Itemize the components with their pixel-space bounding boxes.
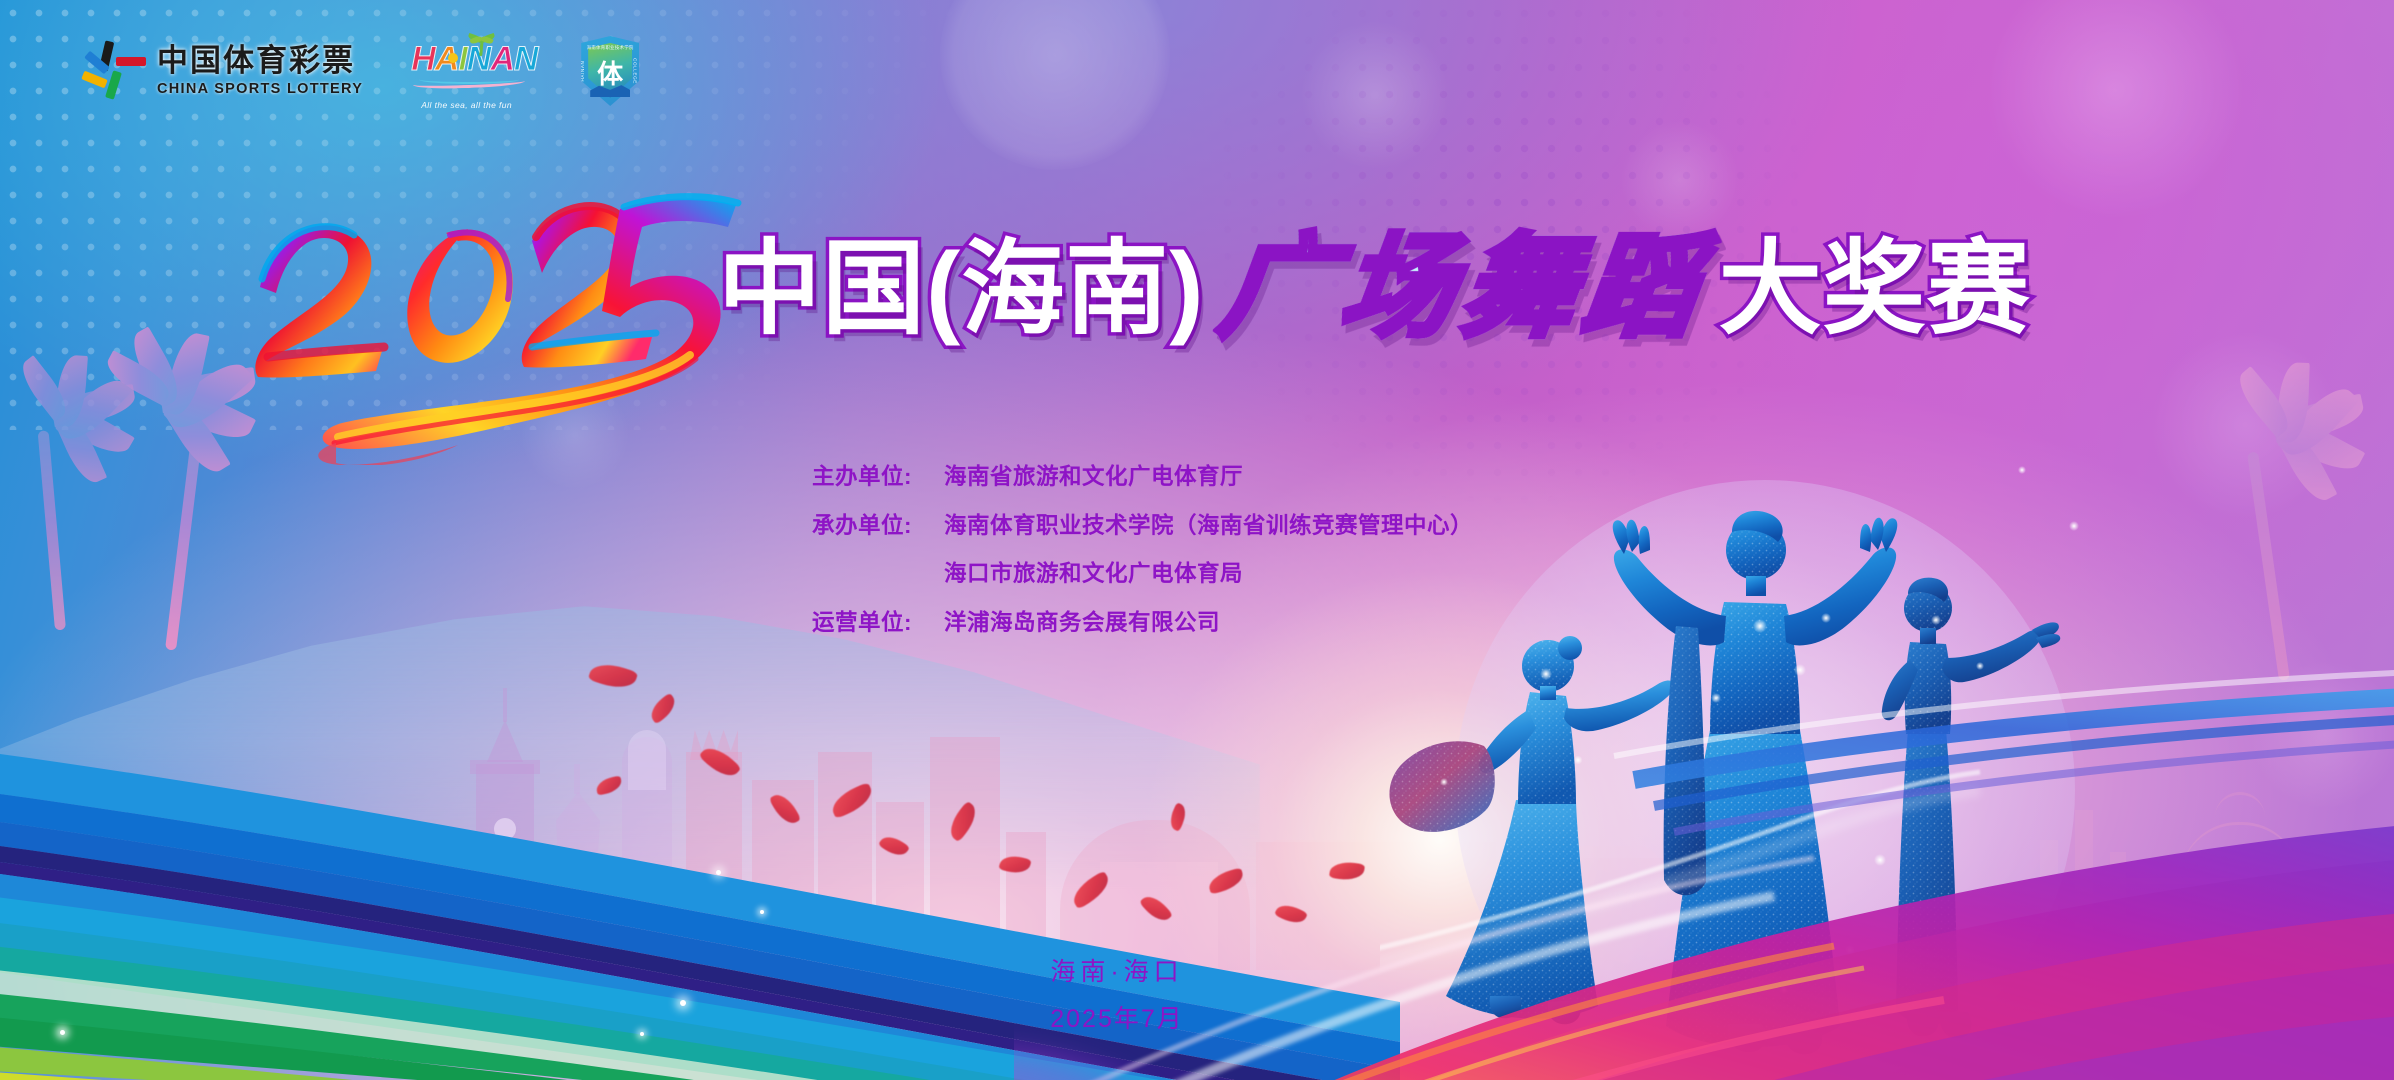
title-part-square-dance: 广场舞蹈 xyxy=(1214,232,1712,344)
title-part-china-hainan: 中国(海南) xyxy=(718,237,1205,340)
shield-right-text: COLLEGE xyxy=(633,58,638,84)
sparkle-icon xyxy=(760,910,764,914)
organizer-label: 承办单位: xyxy=(812,515,944,538)
shield-top-text: 海南体育职业技术学院 xyxy=(581,45,639,51)
sparkle-icon xyxy=(640,1032,644,1036)
ribbon-swoosh-icon xyxy=(1014,480,2394,1080)
shield-glyph: 体 xyxy=(597,62,623,88)
main-title: 中国(海南) 广场舞蹈 大奖赛 xyxy=(718,232,2031,344)
organizer-label: 运营单位: xyxy=(812,612,944,635)
organizer-label: 主办单位: xyxy=(812,466,944,489)
sparkle-icon xyxy=(716,870,721,875)
hainan-wave-icon xyxy=(419,75,519,84)
sports-lottery-mark-icon xyxy=(82,41,144,101)
shield-left-text: HAINAN xyxy=(580,61,585,82)
sparkle-icon xyxy=(680,1000,686,1006)
china-sports-lottery-logo: 中国体育彩票 CHINA SPORTS LOTTERY xyxy=(82,41,363,101)
hainan-palm-icon xyxy=(469,33,495,57)
hainan-sports-college-logo: 体 海南体育职业技术学院 HAINAN COLLEGE xyxy=(581,36,639,106)
hainan-tourism-logo: HAINAN All the sea, all the fun xyxy=(411,42,533,100)
sparkle-icon xyxy=(60,1030,65,1035)
hainan-tagline: All the sea, all the fun xyxy=(421,100,512,110)
title-part-grand-prix: 大奖赛 xyxy=(1719,237,2031,340)
china-sports-lottery-cn: 中国体育彩票 xyxy=(157,45,363,76)
palm-tree-icon xyxy=(0,330,150,630)
china-sports-lottery-en: CHINA SPORTS LOTTERY xyxy=(157,82,363,97)
poster-canvas: 中国(海南) 广场舞蹈 大奖赛 xyxy=(0,0,2394,1080)
logo-bar: 中国体育彩票 CHINA SPORTS LOTTERY HAINAN All t… xyxy=(82,36,639,106)
